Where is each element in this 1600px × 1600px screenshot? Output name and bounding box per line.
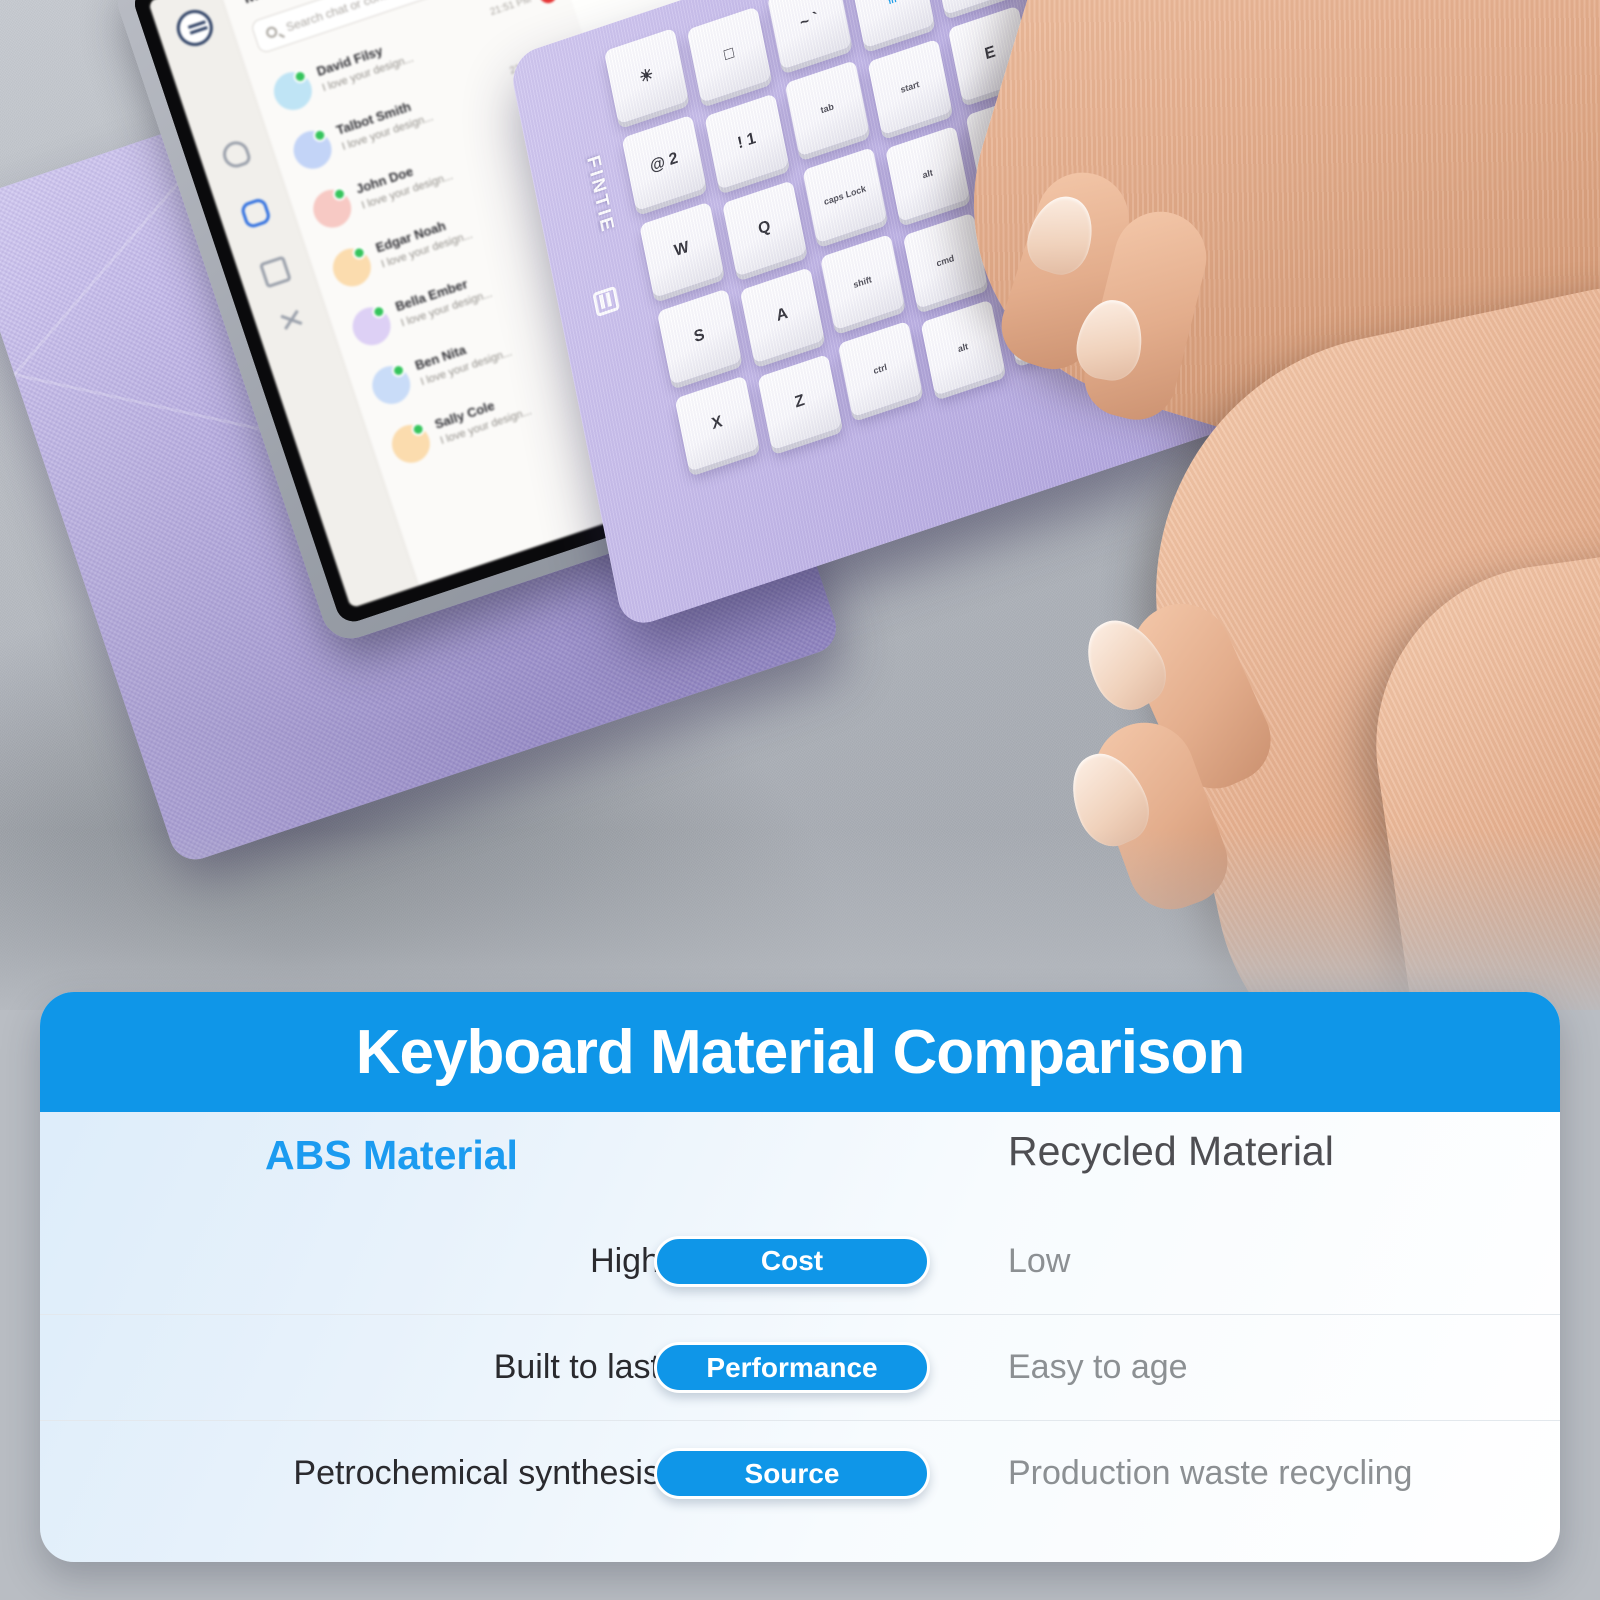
unread-badge bbox=[537, 0, 559, 5]
attribute-label: Source bbox=[745, 1458, 840, 1490]
column-headings: ABS Material Recycled Material bbox=[40, 1112, 1560, 1208]
attribute-pill[interactable]: Cost bbox=[654, 1236, 930, 1287]
keyboard-key[interactable]: fn bbox=[850, 0, 935, 48]
avatar bbox=[387, 420, 435, 468]
photo-fade bbox=[0, 830, 1600, 1010]
recycled-material-heading: Recycled Material bbox=[1008, 1128, 1334, 1175]
attribute-label: Cost bbox=[761, 1245, 823, 1277]
files-icon[interactable] bbox=[259, 256, 292, 289]
card-header: Keyboard Material Comparison bbox=[40, 992, 1560, 1112]
fintie-logo-icon bbox=[592, 286, 620, 317]
avatar bbox=[328, 243, 376, 291]
keyboard-key[interactable]: X bbox=[675, 375, 760, 472]
keyboard-key[interactable]: alt bbox=[885, 126, 970, 223]
avatar bbox=[289, 126, 337, 174]
keyboard-key[interactable]: S bbox=[657, 288, 742, 385]
comparison-rows: HighCostLowBuilt to lastPerformanceEasy … bbox=[40, 1208, 1560, 1526]
avatar bbox=[348, 302, 396, 350]
chat-icon[interactable] bbox=[220, 138, 253, 171]
attribute-pill[interactable]: Performance bbox=[654, 1342, 930, 1393]
keyboard-key[interactable]: @ 2 bbox=[622, 115, 707, 212]
brand-name: FINTIE bbox=[564, 153, 618, 243]
chat-time: 21:51 PM bbox=[489, 0, 533, 18]
attribute-pill[interactable]: Source bbox=[654, 1448, 930, 1499]
app-logo-icon bbox=[172, 5, 218, 51]
comparison-row: Built to lastPerformanceEasy to age bbox=[40, 1314, 1560, 1420]
keyboard-key[interactable]: ☀ bbox=[604, 28, 689, 125]
product-photo-scene: Messages Search chat or contact David Fi… bbox=[0, 0, 1600, 1010]
keyboard-key[interactable]: start bbox=[867, 39, 952, 136]
contacts-icon[interactable] bbox=[239, 197, 272, 230]
avatar bbox=[269, 67, 317, 115]
keyboard-key[interactable]: □ bbox=[687, 6, 772, 103]
keyboard-key[interactable]: tab bbox=[785, 60, 870, 157]
abs-material-heading: ABS Material bbox=[265, 1132, 518, 1179]
keyboard-key[interactable]: W bbox=[639, 202, 724, 299]
keyboard-key[interactable]: alt bbox=[920, 299, 1005, 396]
comparison-row: Petrochemical synthesisSourceProduction … bbox=[40, 1420, 1560, 1526]
keyboard-key[interactable]: Z bbox=[757, 354, 842, 451]
search-icon bbox=[265, 25, 279, 39]
keyboard-key[interactable]: caps Lock bbox=[802, 147, 887, 244]
keyboard-key[interactable]: Q bbox=[722, 180, 807, 277]
keyboard-key[interactable]: # 3 bbox=[930, 0, 1015, 15]
keyboard-key[interactable]: A bbox=[740, 267, 825, 364]
avatar bbox=[367, 361, 415, 409]
recycled-value: Easy to age bbox=[1008, 1348, 1548, 1387]
abs-value: Petrochemical synthesis bbox=[100, 1454, 660, 1493]
attribute-label: Performance bbox=[706, 1352, 877, 1384]
abs-value: Built to last bbox=[100, 1348, 660, 1387]
avatar bbox=[308, 185, 356, 233]
page-title: Keyboard Material Comparison bbox=[356, 1017, 1244, 1088]
comparison-row: HighCostLow bbox=[40, 1208, 1560, 1314]
keyboard-key[interactable]: ! 1 bbox=[704, 93, 789, 190]
keyboard-key[interactable]: shift bbox=[820, 234, 905, 331]
recycled-value: Production waste recycling bbox=[1008, 1454, 1548, 1493]
keyboard-key[interactable]: ~ ` bbox=[767, 0, 852, 70]
comparison-card: Keyboard Material Comparison ABS Materia… bbox=[40, 992, 1560, 1562]
recycled-value: Low bbox=[1008, 1242, 1548, 1281]
abs-value: High bbox=[100, 1242, 660, 1281]
settings-icon[interactable] bbox=[279, 314, 312, 347]
keyboard-key[interactable]: ctrl bbox=[838, 321, 923, 418]
